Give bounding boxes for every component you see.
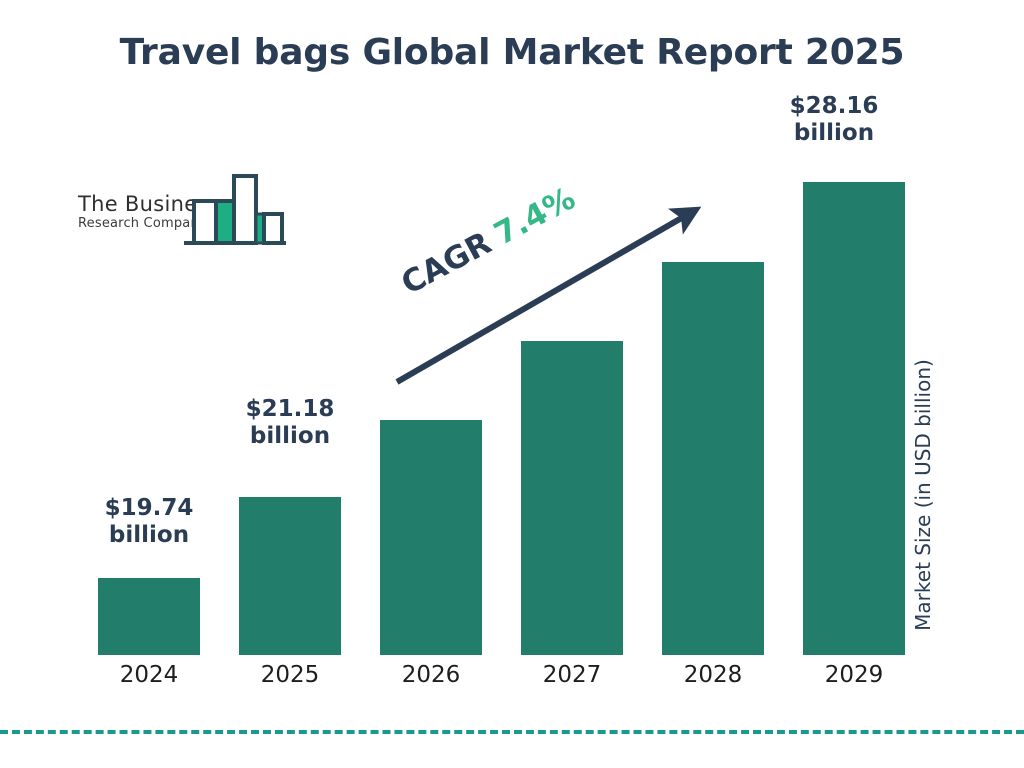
bar-value-2029-amount: $28.16: [790, 93, 879, 119]
bar-value-2029: $28.16 billion: [768, 93, 900, 147]
chart-page: Travel bags Global Market Report 2025 Th…: [0, 0, 1024, 768]
bar-value-2024-amount: $19.74: [105, 495, 194, 521]
y-axis-title: Market Size (in USD billion): [911, 330, 935, 660]
bar-value-2025: $21.18 billion: [224, 396, 356, 450]
x-axis-label-2025: 2025: [239, 662, 341, 688]
x-axis-label-2029: 2029: [803, 662, 905, 688]
footer-divider: [0, 730, 1024, 734]
bar-value-2025-amount: $21.18: [246, 396, 335, 422]
bar-value-2029-unit: billion: [794, 120, 874, 146]
cagr-value: 7.4%: [488, 180, 581, 252]
cagr-label: CAGR: [396, 225, 498, 302]
bar-value-2024: $19.74 billion: [83, 495, 215, 549]
bar-chart-plot: $19.74 billion $21.18 billion $28.16 bil…: [0, 0, 1024, 768]
bar-2025: [239, 497, 341, 655]
bar-2026: [380, 420, 482, 655]
x-axis-label-2028: 2028: [662, 662, 764, 688]
bar-value-2024-unit: billion: [109, 522, 189, 548]
bar-2024: [98, 578, 200, 655]
bar-value-2025-unit: billion: [250, 423, 330, 449]
x-axis-label-2026: 2026: [380, 662, 482, 688]
x-axis-label-2027: 2027: [521, 662, 623, 688]
bar-2028: [662, 262, 764, 655]
bar-2027: [521, 341, 623, 655]
y-axis-title-text: Market Size (in USD billion): [911, 330, 935, 660]
cagr-annotation: CAGR7.4%: [396, 180, 582, 301]
bar-2029: [803, 182, 905, 655]
x-axis-label-2024: 2024: [98, 662, 200, 688]
